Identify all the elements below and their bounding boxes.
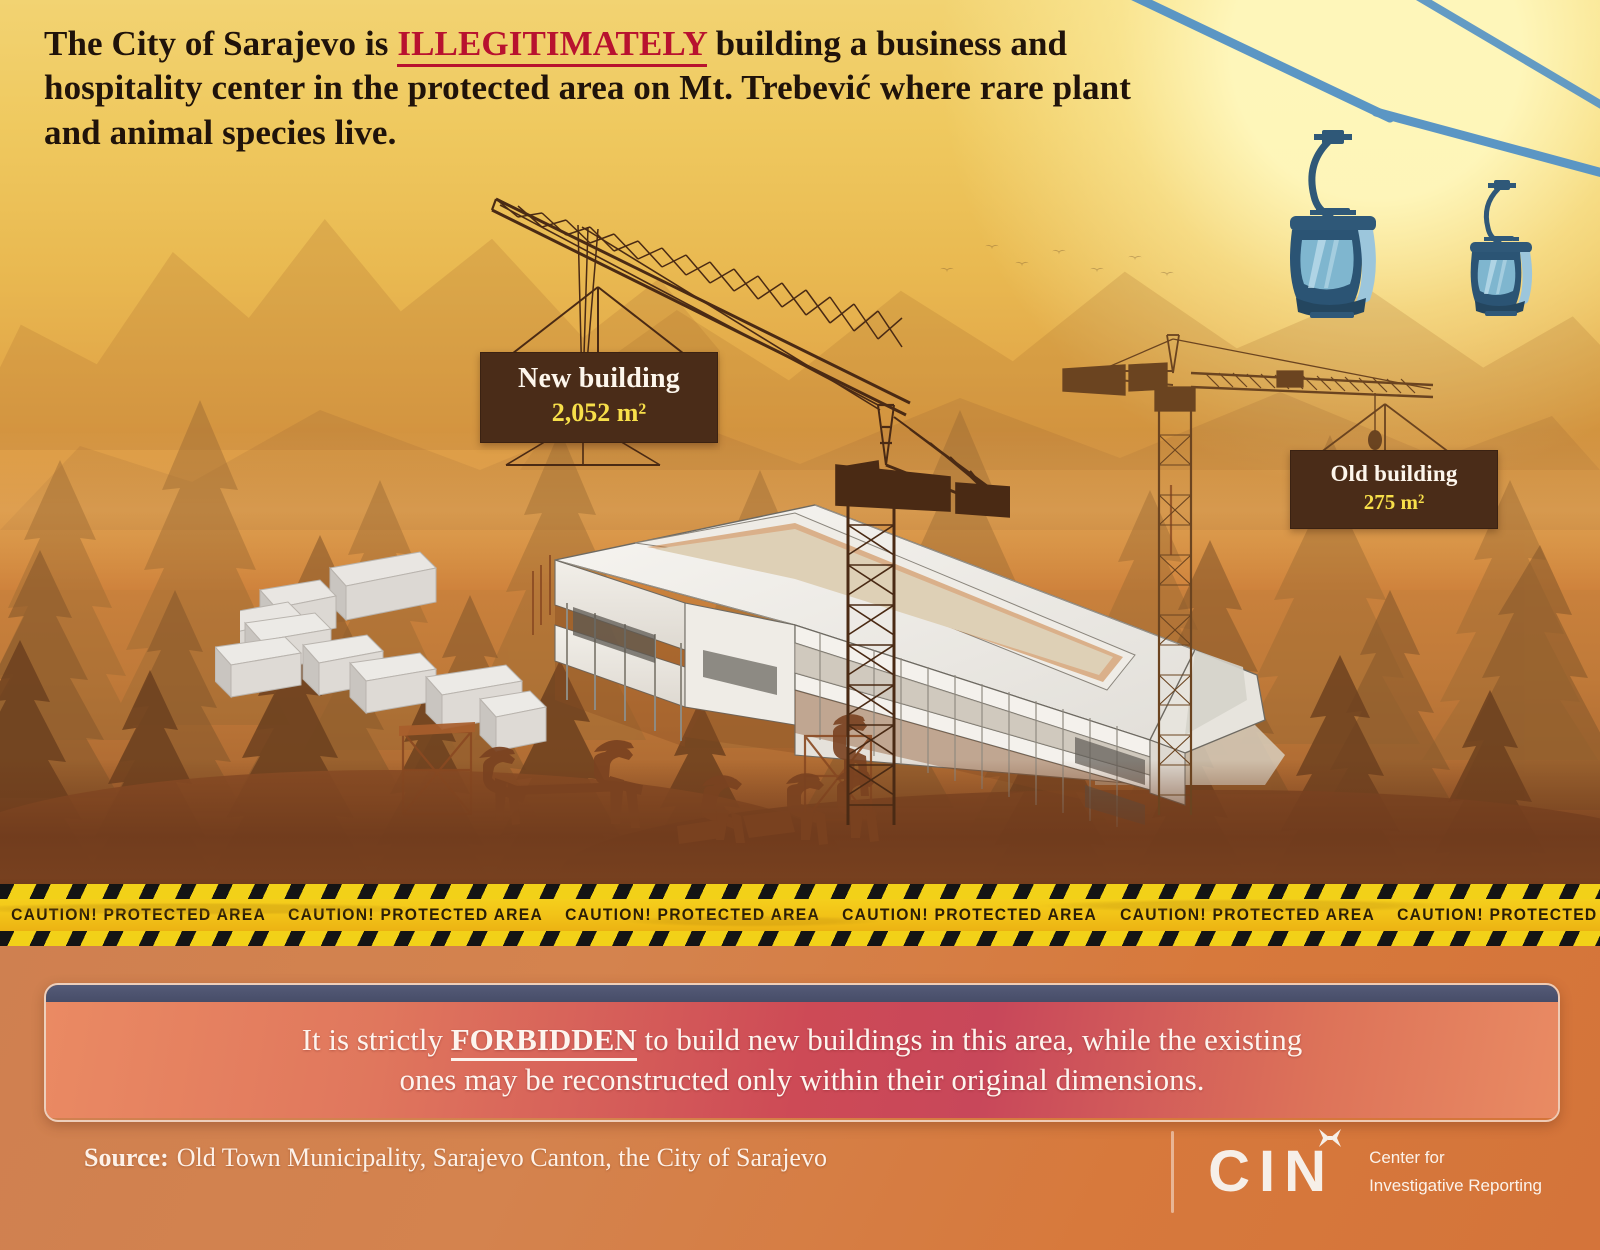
- forbidden-callout: It is strictly FORBIDDEN to build new bu…: [44, 983, 1560, 1122]
- infographic-root: The City of Sarajevo is ILLEGITIMATELY b…: [0, 0, 1600, 1250]
- new-building-label: New building 2,052 m²: [480, 352, 718, 443]
- callout-emphasis: FORBIDDEN: [451, 1022, 637, 1061]
- callout-body: It is strictly FORBIDDEN to build new bu…: [46, 1002, 1558, 1118]
- old-building-title: Old building: [1309, 461, 1479, 487]
- source-label: Source:: [84, 1143, 169, 1172]
- cin-tagline-line1: Center for: [1369, 1144, 1542, 1172]
- page-title: The City of Sarajevo is ILLEGITIMATELY b…: [44, 22, 1134, 155]
- gondola-icon: [1272, 130, 1392, 330]
- tower-crane-icon: [470, 165, 1010, 825]
- new-building-title: New building: [499, 363, 699, 394]
- caution-tape: CAUTION! PROTECTED AREACAUTION! PROTECTE…: [0, 884, 1600, 946]
- gondola-icon: [1458, 180, 1544, 325]
- source-line: Source:Old Town Municipality, Sarajevo C…: [84, 1143, 827, 1173]
- tower-crane-icon: [1055, 325, 1455, 815]
- headline-emphasis: ILLEGITIMATELY: [397, 24, 706, 67]
- caution-stripes-bottom: [0, 931, 1600, 946]
- bird-icon: [1015, 262, 1029, 268]
- caution-tape-text: CAUTION! PROTECTED AREA: [1120, 905, 1375, 925]
- callout-topbar: [46, 985, 1558, 1002]
- bird-icon: [1090, 268, 1104, 274]
- logo-divider: [1171, 1131, 1174, 1213]
- callout-line-2: ones may be reconstructed only within th…: [400, 1060, 1205, 1100]
- caution-tape-text: CAUTION! PROTECTED AREA: [288, 905, 543, 925]
- bowtie-icon: [1317, 1127, 1343, 1149]
- caution-stripes-top: [0, 884, 1600, 899]
- callout-l1-before: It is strictly: [302, 1022, 451, 1057]
- bird-icon: [1052, 250, 1066, 256]
- callout-line-1: It is strictly FORBIDDEN to build new bu…: [302, 1020, 1303, 1060]
- cin-wordmark: CIN: [1208, 1143, 1335, 1201]
- cin-tagline: Center for Investigative Reporting: [1369, 1144, 1542, 1200]
- source-text: Old Town Municipality, Sarajevo Canton, …: [177, 1143, 827, 1172]
- caution-tape-text: CAUTION! PROTECTED AREA: [565, 905, 820, 925]
- old-building-label: Old building 275 m²: [1290, 450, 1498, 529]
- caution-tape-text: CAUTION! PROTECTED AREA: [842, 905, 1097, 925]
- bird-icon: [1160, 272, 1174, 278]
- caution-tape-text: CAUTION! PROTECTED AREA: [11, 905, 266, 925]
- cin-logo[interactable]: CIN Center for Investigative Reporting: [1171, 1124, 1542, 1220]
- old-building-area: 275 m²: [1309, 490, 1479, 515]
- caution-tape-text-band: CAUTION! PROTECTED AREACAUTION! PROTECTE…: [0, 899, 1600, 931]
- callout-l1-after: to build new buildings in this area, whi…: [637, 1022, 1303, 1057]
- cin-letters: CIN: [1208, 1139, 1335, 1204]
- new-building-area: 2,052 m²: [499, 397, 699, 428]
- cin-tagline-line2: Investigative Reporting: [1369, 1172, 1542, 1200]
- caution-tape-text: CAUTION! PROTECTED AREA: [1397, 905, 1600, 925]
- bird-icon: [1128, 256, 1142, 262]
- headline-before: The City of Sarajevo is: [44, 24, 397, 63]
